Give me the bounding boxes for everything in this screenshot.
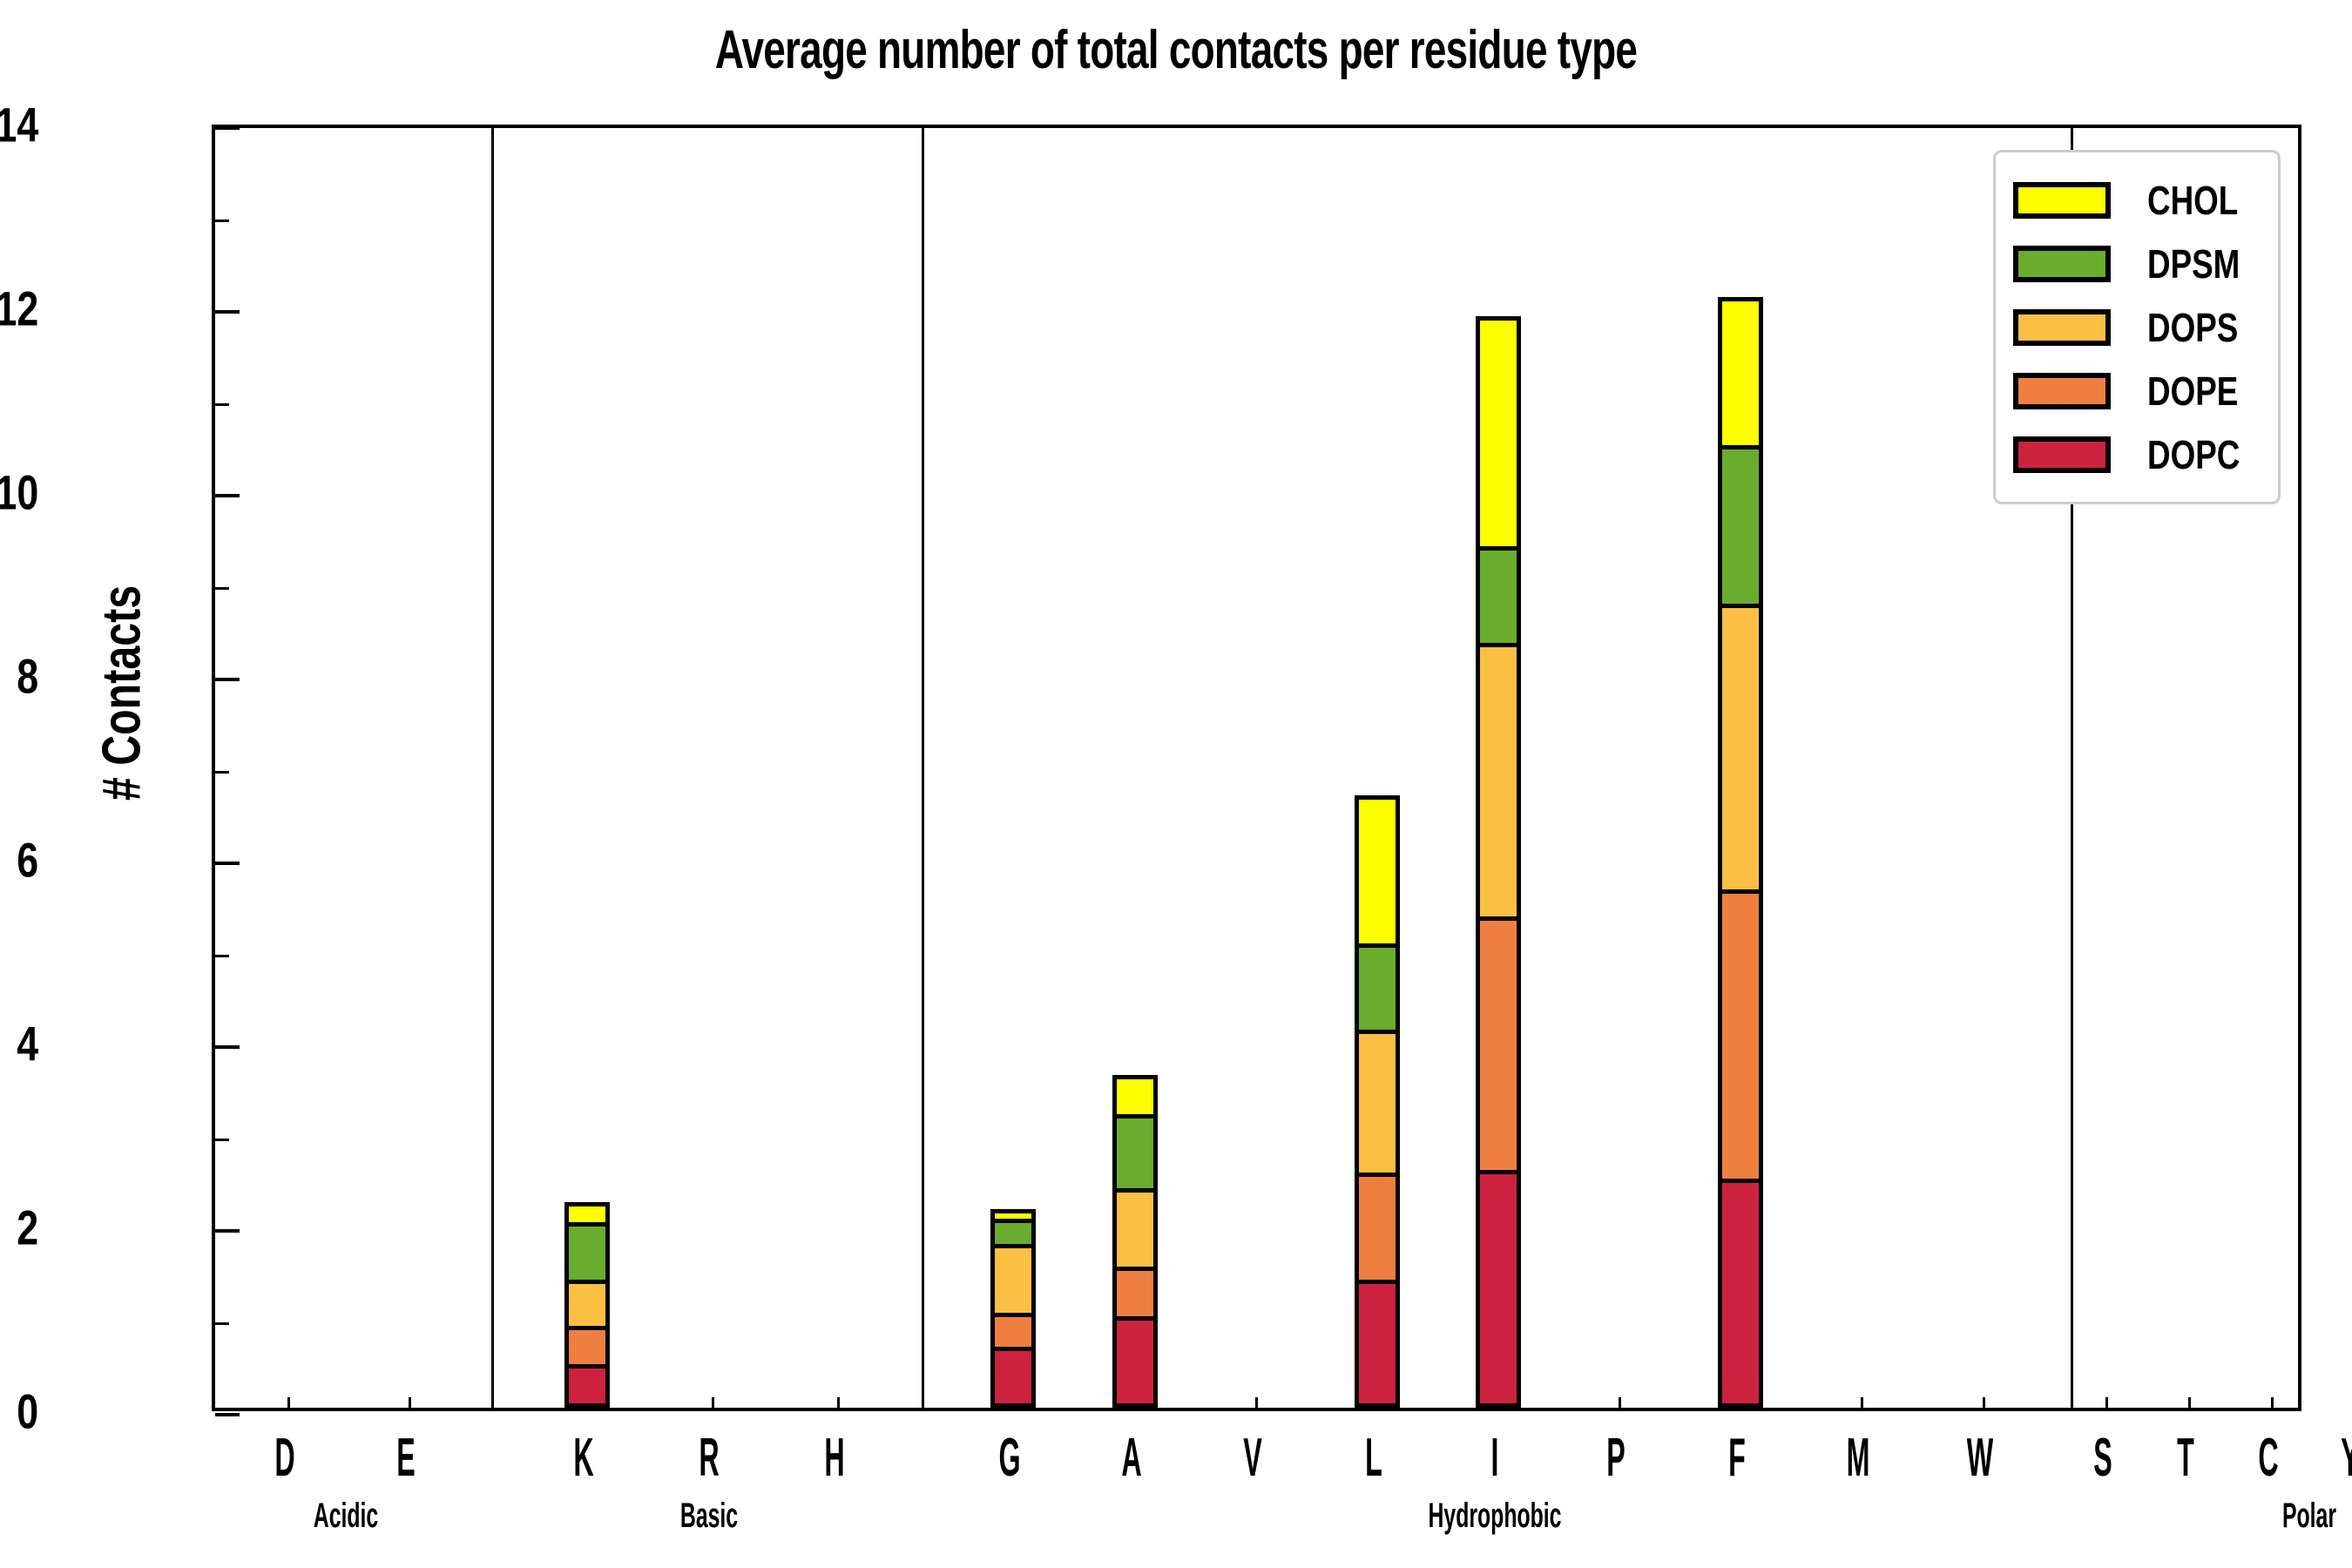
- x-tick-S: [2105, 1397, 2108, 1408]
- bar-segment-K-DPSM[interactable]: [569, 1227, 605, 1284]
- bar-segment-L-DOPC[interactable]: [1359, 1284, 1396, 1403]
- legend-label-dpsm: DPSM: [2147, 240, 2240, 287]
- group-separator-1: [922, 128, 924, 1408]
- x-label-C: C: [2240, 1427, 2295, 1489]
- y-tick-4: [215, 1045, 240, 1049]
- y-tick-6: [215, 862, 240, 865]
- bar-segment-I-DOPE[interactable]: [1480, 921, 1517, 1174]
- y-tick-label-14: 14: [0, 97, 38, 153]
- x-label-V: V: [1225, 1427, 1279, 1489]
- x-label-T: T: [2159, 1427, 2213, 1489]
- legend-label-dopc: DOPC: [2147, 431, 2240, 478]
- x-tick-M: [1861, 1397, 1863, 1408]
- x-label-M: M: [1831, 1427, 1885, 1489]
- y-tick-label-0: 0: [17, 1383, 38, 1440]
- bar-segment-F-DPSM[interactable]: [1722, 449, 1759, 608]
- x-tick-E: [409, 1397, 411, 1408]
- bar-G[interactable]: [990, 1209, 1036, 1408]
- bar-segment-L-DOPS[interactable]: [1359, 1034, 1396, 1177]
- y-minor-tick: [215, 1322, 229, 1325]
- x-tick-V: [1255, 1397, 1258, 1408]
- bar-F[interactable]: [1718, 297, 1763, 1408]
- y-minor-tick: [215, 955, 229, 957]
- plot-inner: [215, 128, 2298, 1408]
- x-label-E: E: [379, 1427, 433, 1489]
- group-label-basic: Basic: [601, 1497, 817, 1536]
- group-label-polar: Polar: [2201, 1497, 2352, 1536]
- y-tick-0: [215, 1413, 240, 1416]
- x-tick-P: [1619, 1397, 1621, 1408]
- bar-segment-K-DOPS[interactable]: [569, 1284, 605, 1331]
- x-label-K: K: [557, 1427, 611, 1489]
- bar-L[interactable]: [1355, 795, 1400, 1408]
- group-label-hydrophobic: Hydrophobic: [1387, 1497, 1603, 1536]
- bar-segment-A-DOPC[interactable]: [1117, 1321, 1153, 1403]
- legend-item-dpsm[interactable]: DPSM: [2013, 232, 2264, 295]
- x-tick-R: [712, 1397, 714, 1408]
- group-label-acidic: Acidic: [238, 1497, 454, 1536]
- y-tick-12: [215, 310, 240, 314]
- x-tick-H: [837, 1397, 840, 1408]
- y-tick-label-8: 8: [17, 648, 38, 705]
- bar-segment-G-DPSM[interactable]: [995, 1223, 1031, 1248]
- x-label-F: F: [1710, 1427, 1764, 1489]
- y-minor-tick: [215, 771, 229, 774]
- y-tick-label-6: 6: [17, 832, 38, 889]
- bar-segment-A-DPSM[interactable]: [1117, 1119, 1153, 1192]
- bar-segment-A-DOPS[interactable]: [1117, 1193, 1153, 1272]
- legend-swatch-chol: [2013, 182, 2111, 219]
- bar-segment-F-DOPC[interactable]: [1722, 1183, 1759, 1403]
- bar-segment-G-CHOL[interactable]: [995, 1213, 1031, 1222]
- x-label-D: D: [258, 1427, 312, 1489]
- legend-swatch-dopc: [2013, 436, 2111, 473]
- bar-segment-I-CHOL[interactable]: [1480, 321, 1517, 551]
- y-tick-label-10: 10: [0, 464, 38, 521]
- y-minor-tick: [215, 403, 229, 406]
- y-minor-tick: [215, 220, 229, 222]
- bar-segment-G-DOPS[interactable]: [995, 1248, 1031, 1317]
- legend-item-dope[interactable]: DOPE: [2013, 359, 2264, 422]
- bar-segment-L-CHOL[interactable]: [1359, 800, 1396, 949]
- bar-segment-I-DOPS[interactable]: [1480, 647, 1517, 921]
- x-label-Y: Y: [2323, 1427, 2352, 1489]
- y-tick-label-2: 2: [17, 1200, 38, 1256]
- x-label-A: A: [1104, 1427, 1158, 1489]
- x-label-P: P: [1589, 1427, 1643, 1489]
- x-label-G: G: [983, 1427, 1037, 1489]
- legend-item-chol[interactable]: CHOL: [2013, 168, 2264, 232]
- bar-segment-F-CHOL[interactable]: [1722, 301, 1759, 449]
- bar-segment-I-DPSM[interactable]: [1480, 551, 1517, 647]
- legend-swatch-dope: [2013, 373, 2111, 409]
- legend-label-dope: DOPE: [2147, 368, 2238, 415]
- y-minor-tick: [215, 1139, 229, 1141]
- x-label-R: R: [682, 1427, 736, 1489]
- y-axis-label: # Contacts: [91, 456, 153, 931]
- bar-segment-A-CHOL[interactable]: [1117, 1079, 1153, 1119]
- bar-segment-K-DOPC[interactable]: [569, 1369, 605, 1403]
- bar-I[interactable]: [1476, 316, 1521, 1408]
- x-tick-D: [287, 1397, 290, 1408]
- bar-segment-G-DOPC[interactable]: [995, 1351, 1031, 1403]
- x-label-H: H: [808, 1427, 862, 1489]
- bar-segment-G-DOPE[interactable]: [995, 1317, 1031, 1351]
- x-label-S: S: [2076, 1427, 2130, 1489]
- bar-segment-K-CHOL[interactable]: [569, 1206, 605, 1227]
- legend-label-chol: CHOL: [2147, 177, 2238, 224]
- bar-segment-F-DOPE[interactable]: [1722, 894, 1759, 1183]
- legend-swatch-dpsm: [2013, 246, 2111, 282]
- y-tick-14: [215, 126, 240, 130]
- chart-figure: Average number of total contacts per res…: [0, 0, 2352, 1568]
- legend-item-dopc[interactable]: DOPC: [2013, 422, 2264, 486]
- bar-K[interactable]: [564, 1202, 610, 1408]
- x-label-W: W: [1952, 1427, 2006, 1489]
- chart-title: Average number of total contacts per res…: [306, 19, 2046, 81]
- y-tick-2: [215, 1229, 240, 1233]
- bar-segment-L-DPSM[interactable]: [1359, 948, 1396, 1033]
- y-minor-tick: [215, 587, 229, 590]
- legend-label-dops: DOPS: [2147, 304, 2238, 351]
- x-label-I: I: [1468, 1427, 1522, 1489]
- legend-swatch-dops: [2013, 309, 2111, 346]
- y-tick-10: [215, 494, 240, 497]
- bar-A[interactable]: [1112, 1075, 1158, 1408]
- bar-segment-L-DOPE[interactable]: [1359, 1177, 1396, 1284]
- bar-segment-K-DOPE[interactable]: [569, 1330, 605, 1368]
- bar-segment-A-DOPE[interactable]: [1117, 1271, 1153, 1321]
- group-separator-0: [491, 128, 494, 1408]
- plot-area: [212, 125, 2301, 1411]
- x-label-L: L: [1347, 1427, 1401, 1489]
- chart-legend[interactable]: CHOLDPSMDOPSDOPEDOPC: [1993, 150, 2281, 504]
- x-tick-C: [2271, 1397, 2274, 1408]
- y-tick-8: [215, 678, 240, 681]
- y-tick-label-12: 12: [0, 280, 38, 337]
- legend-item-dops[interactable]: DOPS: [2013, 295, 2264, 359]
- y-tick-label-4: 4: [17, 1016, 38, 1072]
- x-tick-T: [2188, 1397, 2191, 1408]
- x-tick-W: [1983, 1397, 1985, 1408]
- bar-segment-I-DOPC[interactable]: [1480, 1174, 1517, 1403]
- bar-segment-F-DOPS[interactable]: [1722, 608, 1759, 894]
